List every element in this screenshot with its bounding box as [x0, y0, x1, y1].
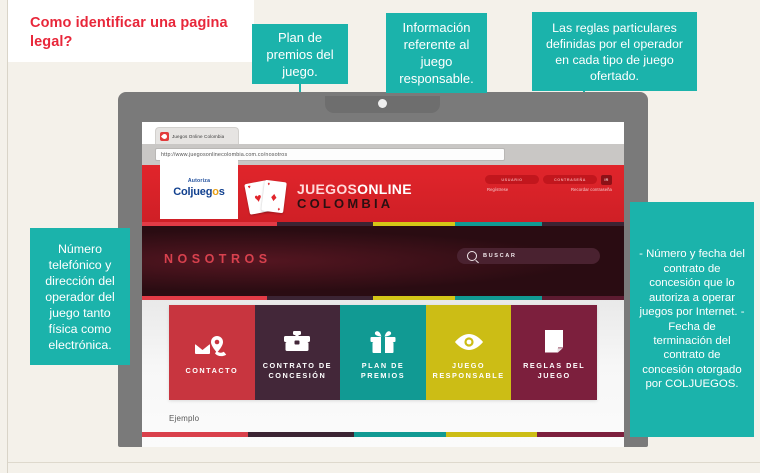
coljuegos-logo: Autoriza Coljuegos	[160, 157, 238, 219]
callout-numero-telefonico: Número telefónico y dirección del operad…	[30, 228, 130, 365]
brand-word-juegos: JUEGOS	[297, 181, 357, 197]
favicon-icon	[160, 132, 169, 141]
login-links: Regístrese Recordar contraseña	[487, 187, 612, 192]
title-panel: Como identificar una pagina legal?	[8, 0, 254, 62]
contact-icon	[195, 330, 229, 364]
tile-plan-premios[interactable]: PLAN DE PREMIOS	[340, 305, 426, 400]
tile-label: PLAN DE PREMIOS	[340, 361, 426, 381]
document-icon	[544, 325, 564, 359]
diamond-pip-small: ♦	[267, 182, 270, 187]
username-field[interactable]: USUARIO	[485, 175, 539, 184]
footer-stripe	[142, 432, 624, 437]
briefcase-icon	[283, 325, 311, 359]
playing-card-diamond: ♦ ♦ ♦	[261, 180, 287, 213]
brand-word-online: ONLINE	[357, 181, 412, 197]
site-brand-line2: COLOMBIA	[297, 197, 412, 211]
login-submit-label: IR	[604, 178, 608, 182]
infographic-stage: Como identificar una pagina legal? Juego…	[0, 0, 760, 473]
left-rule	[7, 0, 8, 473]
tile-label: CONTACTO	[185, 366, 238, 376]
heart-pip-small: ♥	[248, 185, 252, 190]
search-input[interactable]: BUSCAR	[457, 248, 600, 264]
laptop-webcam	[378, 99, 387, 108]
site-brand: JUEGOSONLINE COLOMBIA	[297, 182, 412, 211]
register-link[interactable]: Regístrese	[487, 187, 508, 192]
tile-juego-responsable[interactable]: JUEGO RESPONSABLE	[426, 305, 512, 400]
browser-window: Juegos Online Colombia http://www.juegos…	[142, 122, 624, 447]
callout-contrato-concesion: - Número y fecha del contrato de concesi…	[630, 202, 754, 437]
tile-label: REGLAS DEL JUEGO	[511, 361, 597, 381]
tile-label: JUEGO RESPONSABLE	[426, 361, 512, 381]
page-bottom-margin	[8, 464, 760, 473]
login-submit-button[interactable]: IR	[601, 175, 612, 185]
browser-tabbar: Juegos Online Colombia	[142, 122, 624, 144]
login-controls: USUARIO CONTRASEÑA IR	[485, 175, 612, 185]
remember-password-link[interactable]: Recordar contraseña	[571, 187, 612, 192]
callout-reglas-particulares: Las reglas particulares definidas por el…	[532, 12, 697, 91]
search-placeholder: BUSCAR	[483, 253, 517, 259]
site-header: Autoriza Coljuegos ♥ ♥ ♥ ♦ ♦ ♦ JUEGOSONL…	[142, 165, 624, 222]
coljuegos-wordmark: Coljuegos	[173, 186, 224, 198]
tile-row: CONTACTO CONTRATO DE CONCESIÓN	[169, 305, 597, 400]
playing-cards-icon: ♥ ♥ ♥ ♦ ♦ ♦	[247, 179, 293, 215]
diamond-pip: ♦	[270, 190, 278, 203]
username-label: USUARIO	[501, 178, 522, 182]
site-content: CONTACTO CONTRATO DE CONCESIÓN	[142, 300, 624, 447]
tile-contacto[interactable]: CONTACTO	[169, 305, 255, 400]
password-field[interactable]: CONTRASEÑA	[543, 175, 597, 184]
search-icon	[467, 251, 477, 261]
browser-tab-title: Juegos Online Colombia	[172, 134, 224, 139]
tile-contrato-concesion[interactable]: CONTRATO DE CONCESIÓN	[255, 305, 341, 400]
eye-icon	[453, 325, 485, 359]
diamond-pip-small2: ♦	[278, 206, 281, 211]
page-bottom-rule	[8, 462, 760, 463]
browser-tab[interactable]: Juegos Online Colombia	[155, 127, 239, 144]
callout-plan-premios: Plan de premios del juego.	[252, 24, 348, 84]
site-brand-line1: JUEGOSONLINE	[297, 182, 412, 196]
gift-icon	[370, 325, 396, 359]
tile-label: CONTRATO DE CONCESIÓN	[255, 361, 341, 381]
footer-label: Ejemplo	[169, 414, 199, 423]
coljuegos-authorizer-label: Autoriza	[188, 178, 210, 184]
password-label: CONTRASEÑA	[554, 178, 586, 182]
coljuegos-word-b: s	[219, 186, 225, 198]
page-title: Como identificar una pagina legal?	[30, 14, 240, 52]
coljuegos-word-a: Coljueg	[173, 186, 212, 198]
callout-juego-responsable: Información referente al juego responsab…	[386, 13, 487, 93]
section-title: NOSOTROS	[164, 252, 272, 266]
section-band: NOSOTROS BUSCAR	[142, 226, 624, 296]
tile-reglas-juego[interactable]: REGLAS DEL JUEGO	[511, 305, 597, 400]
